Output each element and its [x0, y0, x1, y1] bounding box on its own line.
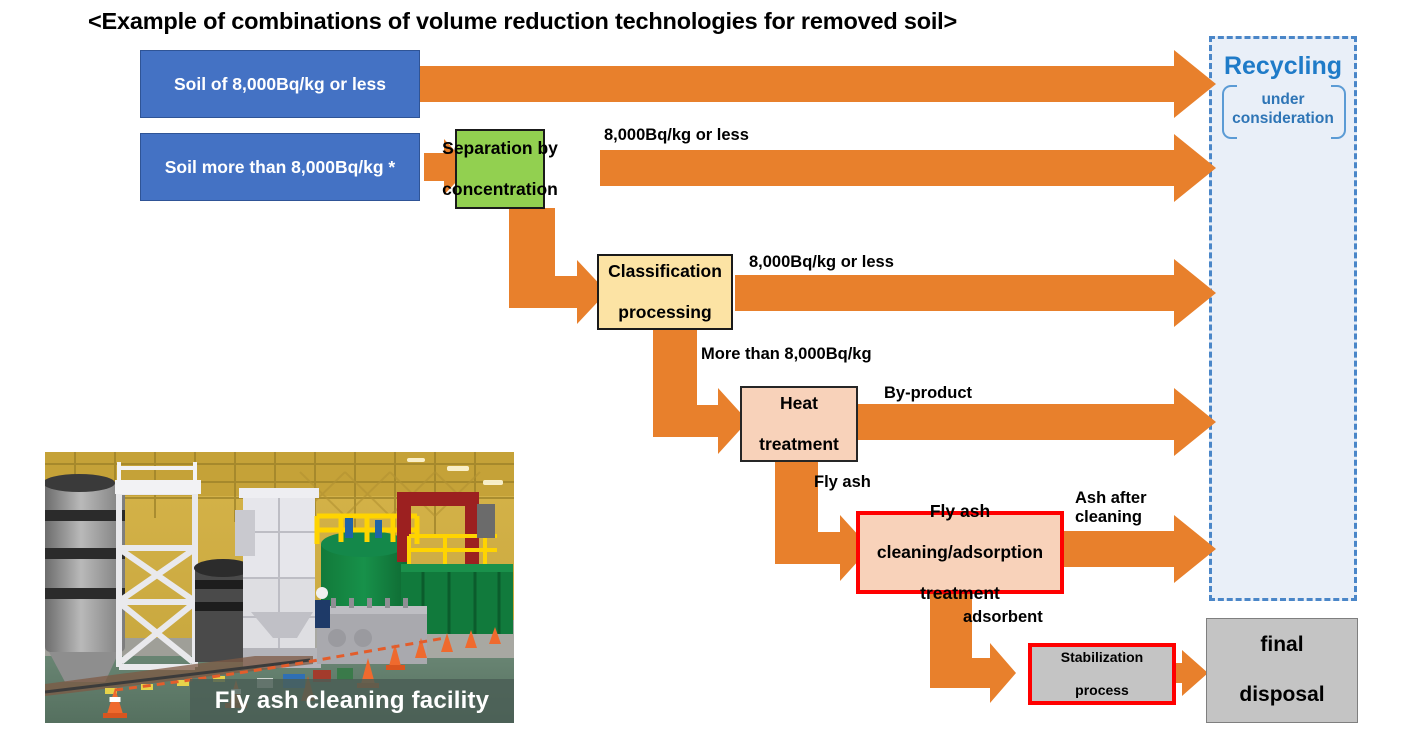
node-classification-processing[interactable]: Classification processing: [597, 254, 733, 330]
node-separation-by-concentration[interactable]: Separation by concentration: [455, 129, 545, 209]
node-separation-line2: concentration: [442, 179, 558, 200]
node-soil-low-label: Soil of 8,000Bq/kg or less: [174, 74, 386, 95]
label-adsorbent: adsorbent: [963, 608, 1043, 627]
recycling-subtitle-line2: consideration: [1232, 110, 1334, 127]
arrow-separation-to-classification: [509, 208, 607, 324]
arrow-stabilization-to-final: [1172, 650, 1208, 696]
node-flyash-line2: cleaning/adsorption: [877, 542, 1043, 563]
node-stabilization-line2: process: [1061, 682, 1143, 699]
label-heat-flyash: Fly ash: [814, 473, 871, 492]
node-soil-low[interactable]: Soil of 8,000Bq/kg or less: [140, 50, 420, 118]
node-separation-line1: Separation by: [442, 138, 558, 159]
label-classification-downstream: More than 8,000Bq/kg: [701, 345, 872, 364]
recycling-subtitle-line1: under: [1261, 91, 1304, 108]
label-heat-byproduct: By-product: [884, 384, 972, 403]
label-ash-after-cleaning: Ash after cleaning: [1075, 489, 1147, 528]
node-heat-treatment[interactable]: Heat treatment: [740, 386, 858, 462]
node-stabilization-process[interactable]: Stabilization process: [1028, 643, 1176, 705]
node-classification-line2: processing: [608, 302, 722, 323]
page-title: <Example of combinations of volume reduc…: [88, 4, 1088, 38]
node-final-disposal[interactable]: final disposal: [1206, 618, 1358, 723]
recycling-title: Recycling: [1209, 52, 1357, 84]
node-soil-high[interactable]: Soil more than 8,000Bq/kg *: [140, 133, 420, 201]
node-final-disposal-line1: final: [1239, 633, 1324, 658]
node-heat-line2: treatment: [759, 434, 839, 455]
node-heat-line1: Heat: [759, 393, 839, 414]
photo-caption: Fly ash cleaning facility: [190, 679, 514, 723]
arrow-soil-low-to-recycling: [418, 50, 1216, 118]
diagram-canvas: <Example of combinations of volume reduc…: [0, 0, 1422, 740]
node-final-disposal-line2: disposal: [1239, 683, 1324, 708]
node-classification-line1: Classification: [608, 261, 722, 282]
label-ash-after-cleaning-line1: Ash after: [1075, 489, 1147, 507]
recycling-subtitle: under consideration: [1217, 84, 1349, 136]
node-stabilization-line1: Stabilization: [1061, 649, 1143, 666]
label-ash-after-cleaning-line2: cleaning: [1075, 508, 1142, 526]
node-flyash-line1: Fly ash: [877, 501, 1043, 522]
label-classification-output: 8,000Bq/kg or less: [749, 253, 894, 272]
node-flyash-line3: treatment: [877, 583, 1043, 604]
node-soil-high-label: Soil more than 8,000Bq/kg *: [165, 157, 395, 178]
node-fly-ash-cleaning-adsorption-treatment[interactable]: Fly ash cleaning/adsorption treatment: [856, 511, 1064, 594]
label-separation-output: 8,000Bq/kg or less: [604, 126, 749, 145]
